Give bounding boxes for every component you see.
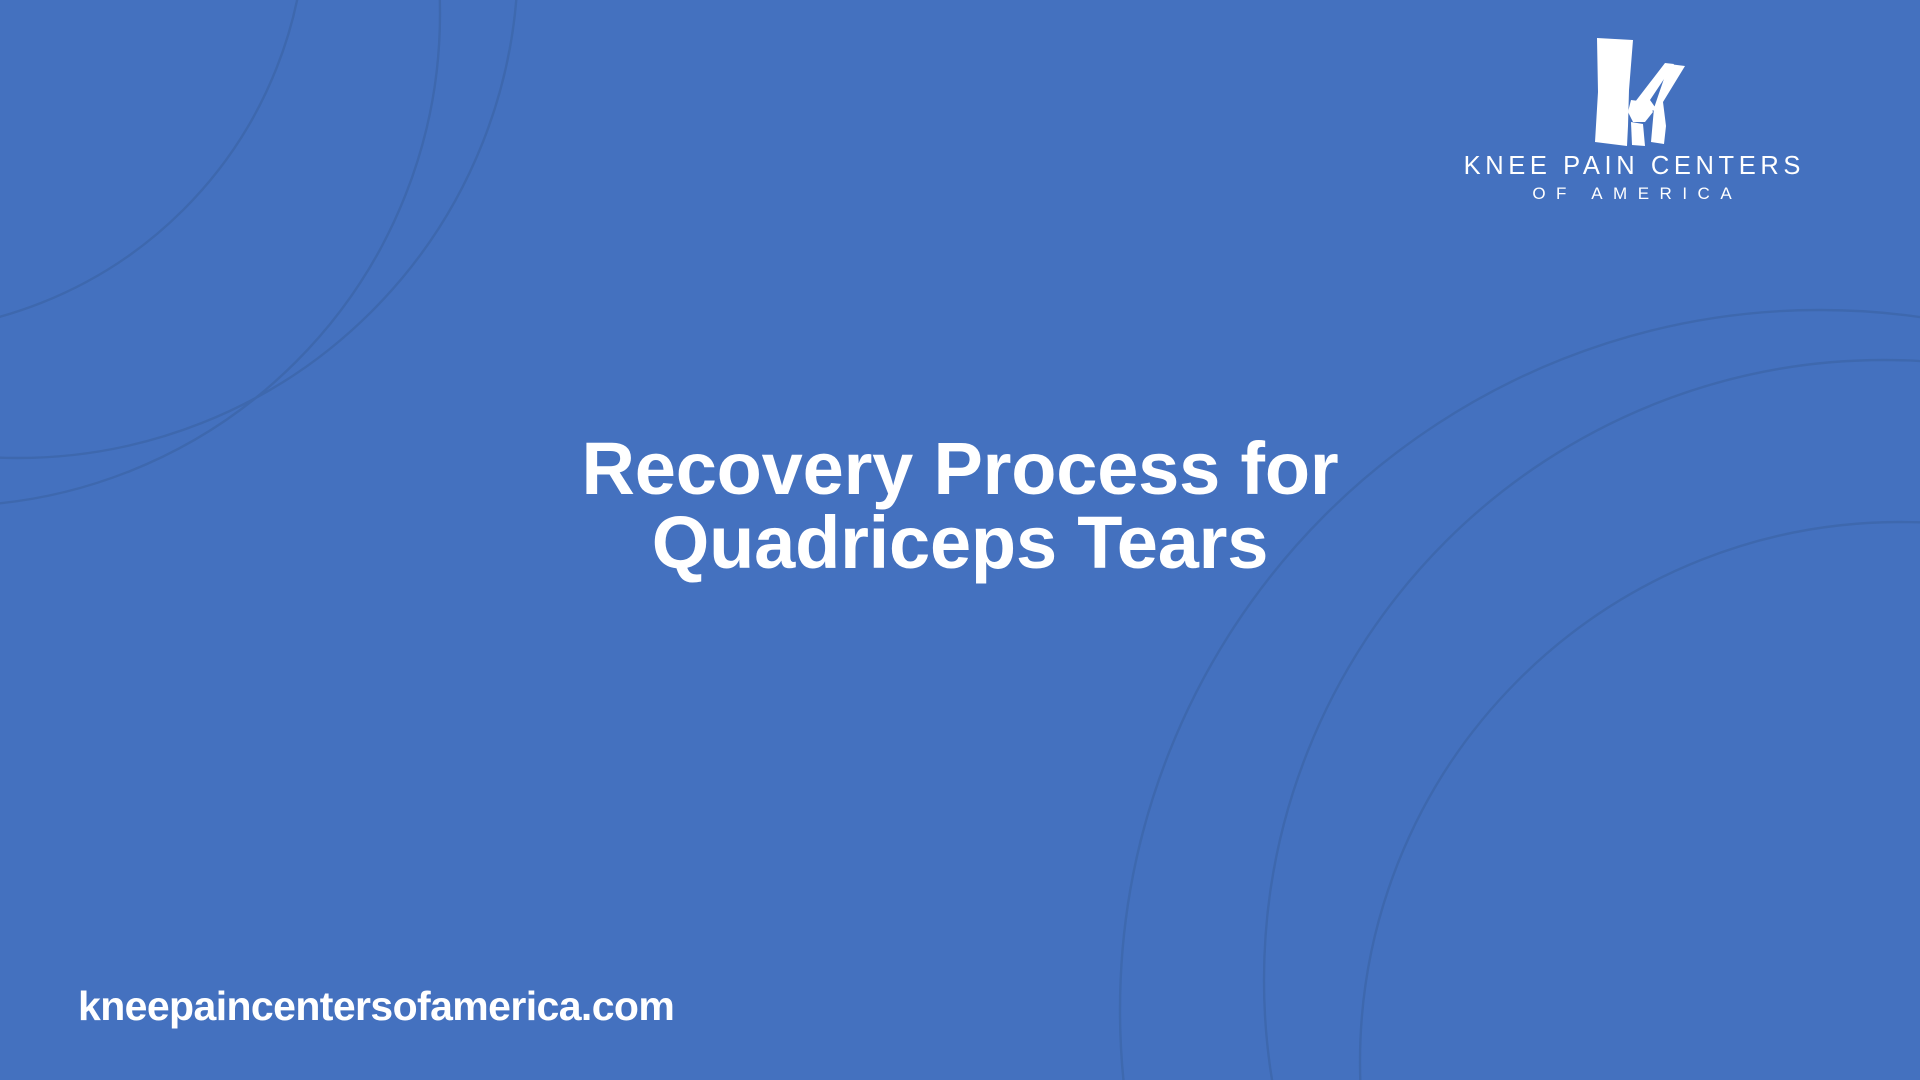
brand-logo[interactable]: KNEE PAIN CENTERS OF AMERICA xyxy=(1422,30,1842,204)
logo-subwordmark: OF AMERICA xyxy=(1522,184,1742,204)
deco-circle-bottom-right-inner xyxy=(1360,522,1920,1080)
deco-circle-bottom-right-outer xyxy=(1120,310,1920,1080)
deco-circle-top-left-outer xyxy=(0,0,518,458)
title-line-1: Recovery Process for xyxy=(0,432,1920,506)
page-title: Recovery Process for Quadriceps Tears xyxy=(0,432,1920,580)
title-heading: Recovery Process for Quadriceps Tears xyxy=(0,432,1920,580)
deco-circle-top-left-inner xyxy=(0,0,306,332)
deco-circle-top-left-mid xyxy=(0,0,440,506)
logo-wordmark: KNEE PAIN CENTERS xyxy=(1459,152,1805,181)
title-line-2: Quadriceps Tears xyxy=(0,506,1920,580)
knee-joint-k-monogram-icon xyxy=(1573,30,1691,148)
title-slide: KNEE PAIN CENTERS OF AMERICA Recovery Pr… xyxy=(0,0,1920,1080)
footer-website-url[interactable]: kneepaincentersofamerica.com xyxy=(78,983,674,1030)
